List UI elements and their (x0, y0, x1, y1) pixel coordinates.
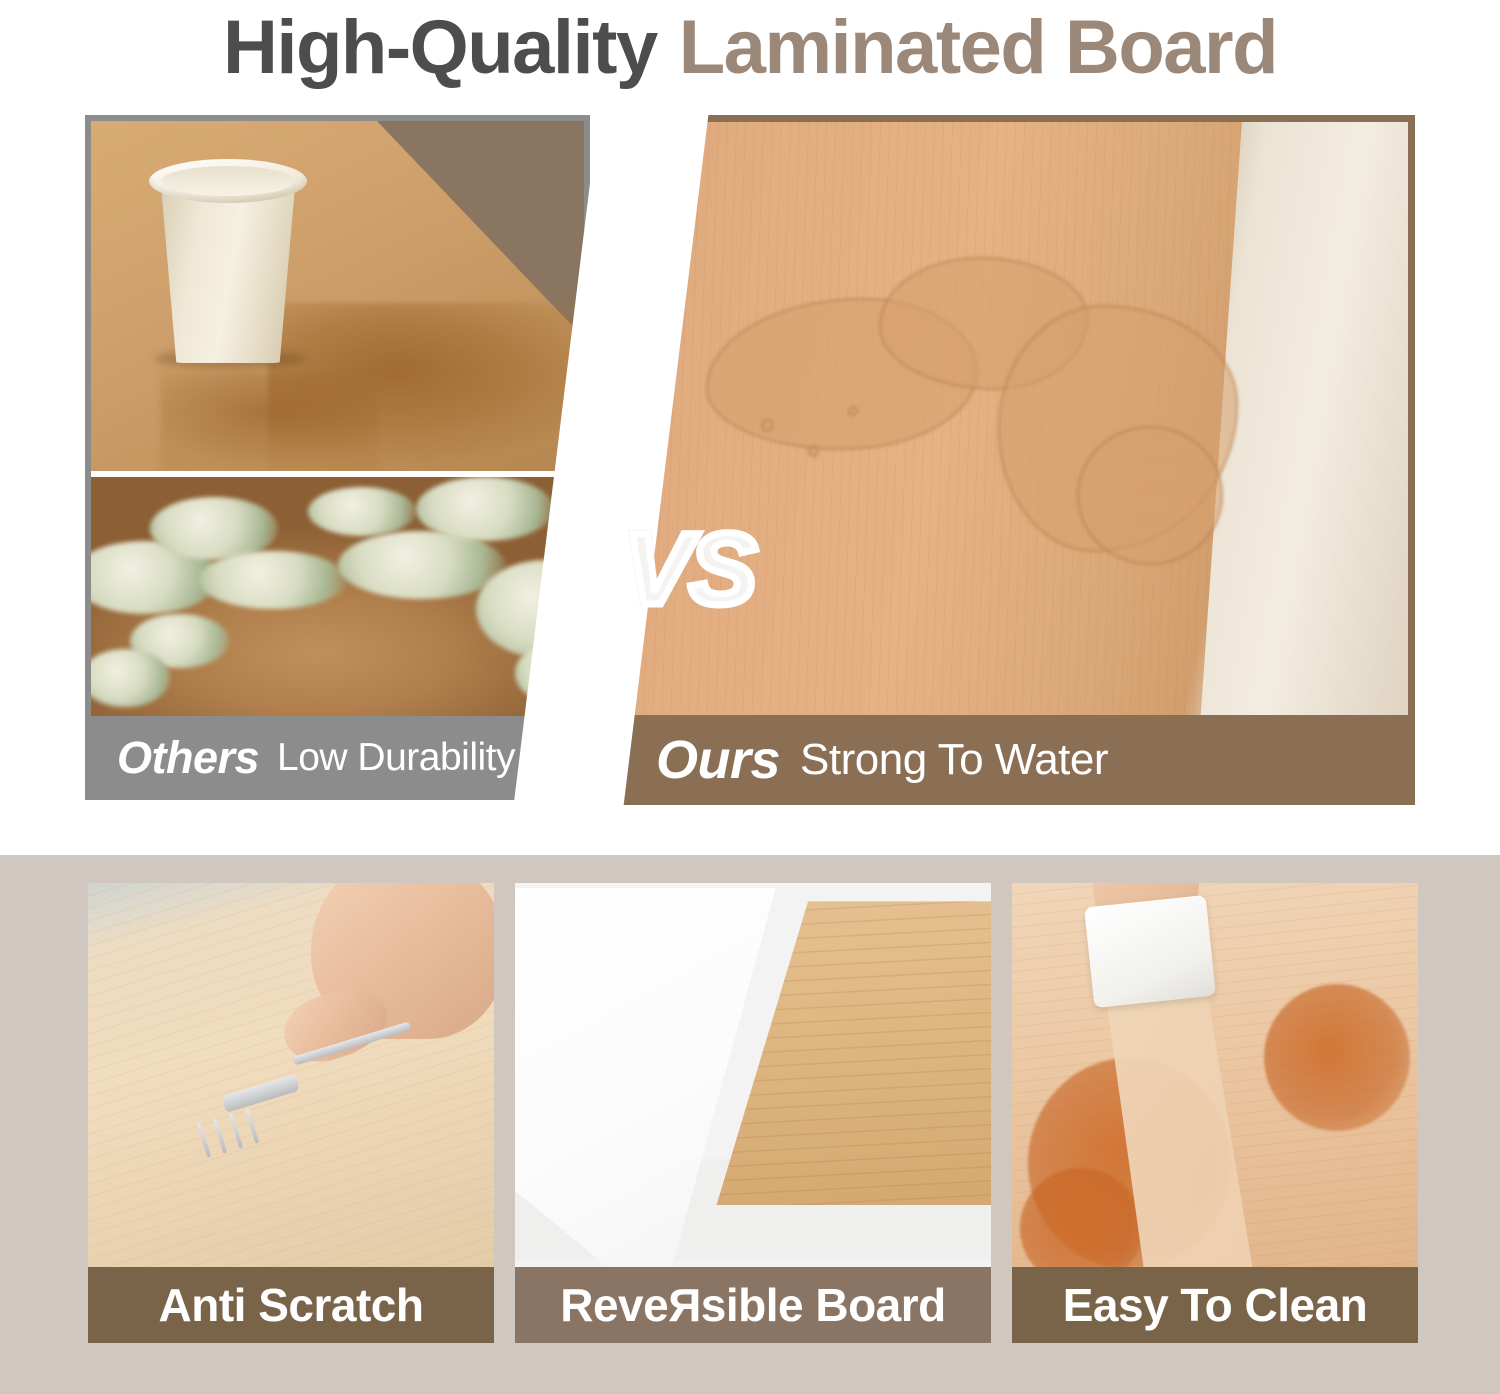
vs-label: VS (624, 511, 754, 628)
liquid-stain-secondary (160, 373, 377, 471)
photo-mold-growth-on-board (91, 477, 584, 722)
features-section: Anti Scratch ReveЯsible Board (0, 855, 1500, 1394)
others-subtitle: Low Durability (277, 736, 515, 780)
cup-body (160, 175, 296, 363)
page-title: High-Quality Laminated Board (0, 0, 1500, 95)
ours-panel: Ours Strong To Water (612, 115, 1415, 805)
cup-interior (161, 166, 295, 196)
feature-card-easy-to-clean: Easy To Clean (1012, 883, 1418, 1343)
feature-label: Anti Scratch (159, 1278, 424, 1332)
feature-label-bar: Easy To Clean (1012, 1267, 1418, 1343)
features-row: Anti Scratch ReveЯsible Board (88, 883, 1418, 1343)
others-title: Others (117, 732, 259, 784)
feature-card-anti-scratch: Anti Scratch (88, 883, 494, 1343)
mold-patch (308, 487, 416, 536)
page-title-primary: High-Quality (223, 10, 657, 86)
sauce-stain (1264, 984, 1410, 1131)
mold-patch (338, 531, 506, 600)
vs-badge: VS (594, 509, 784, 629)
others-label-bar: Others Low Durability (85, 716, 590, 800)
mold-patch (416, 477, 554, 541)
ours-title: Ours (656, 729, 780, 791)
paper-cup (149, 153, 307, 363)
mold-patch (91, 649, 170, 708)
others-panel: Others Low Durability (85, 115, 590, 800)
feature-label: Easy To Clean (1063, 1278, 1368, 1332)
feature-card-reversible-board: ReveЯsible Board (515, 883, 991, 1343)
page-title-secondary: Laminated Board (679, 10, 1277, 86)
photo-water-beading-on-laminate (619, 122, 1408, 798)
mold-patch (199, 551, 347, 610)
comparison-section: Others Low Durability Ours Strong To Wat… (0, 95, 1500, 825)
photo-spilled-drink-on-mdf (91, 121, 584, 471)
ours-subtitle: Strong To Water (800, 735, 1108, 785)
feature-label: ReveЯsible Board (560, 1278, 946, 1332)
water-bead (1077, 426, 1223, 565)
water-droplet (848, 406, 858, 416)
feature-label-bar: ReveЯsible Board (515, 1267, 991, 1343)
cleaning-cloth (1084, 895, 1216, 1008)
ours-label-bar: Ours Strong To Water (612, 715, 1415, 805)
feature-label-bar: Anti Scratch (88, 1267, 494, 1343)
